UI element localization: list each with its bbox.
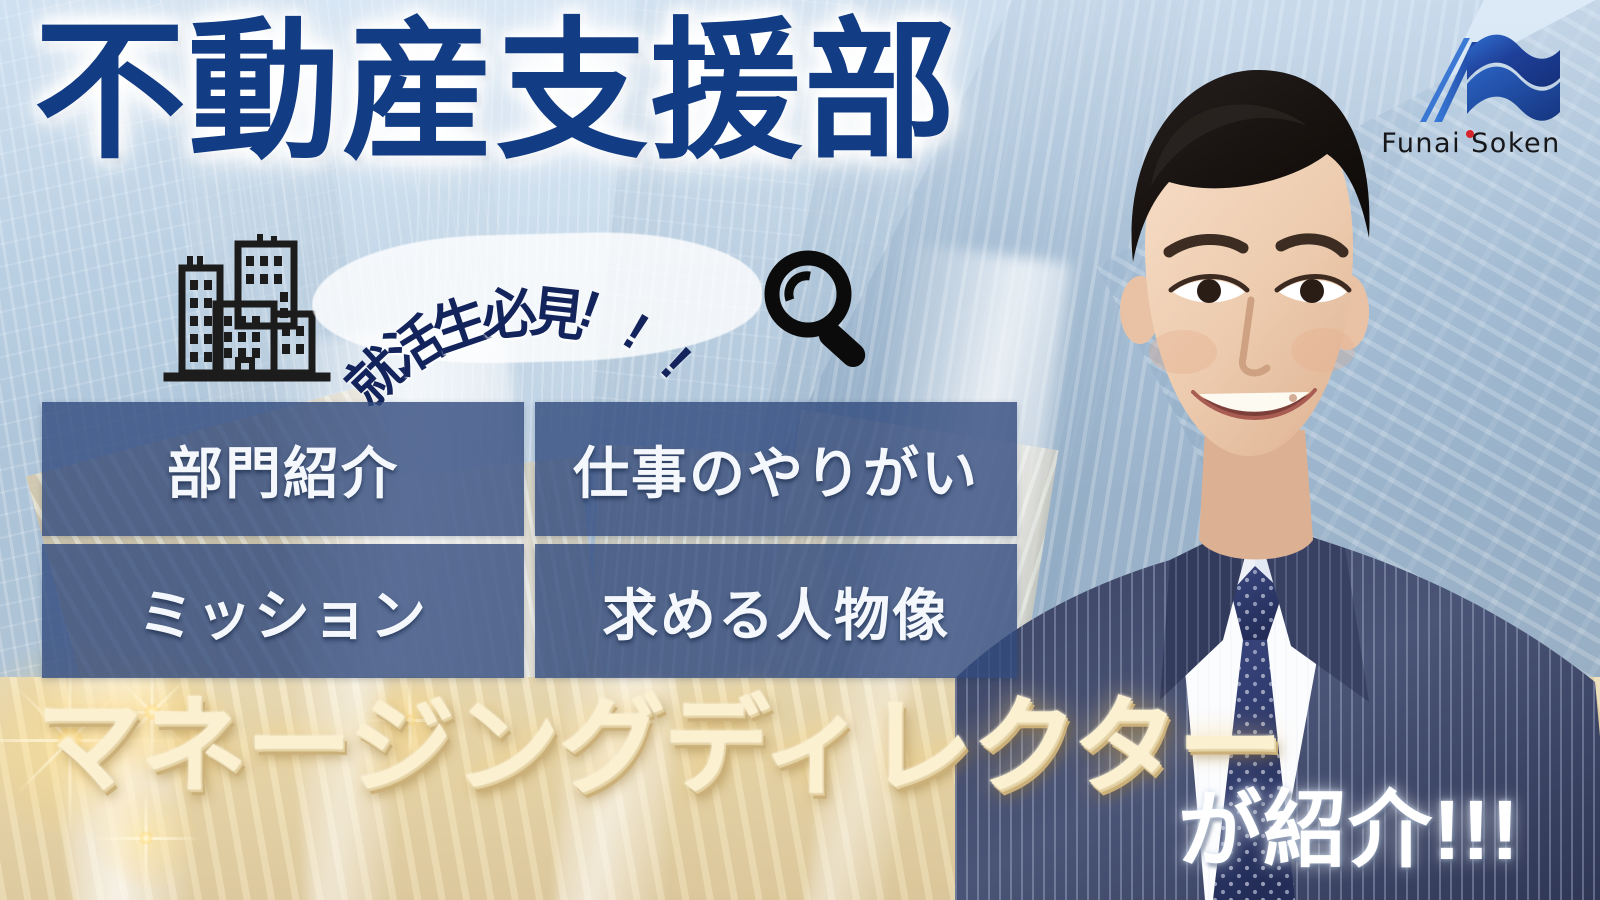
- footer-subheadline: が紹介!!!: [1178, 788, 1520, 872]
- thumbnail-canvas: 不動産支援部 Funai Soken: [0, 0, 1600, 900]
- speech-banner-text: 就活生必見!!!: [312, 234, 762, 362]
- page-title: 不動産支援部: [34, 10, 958, 174]
- menu-item-label: 求める人物像: [602, 571, 950, 652]
- menu-item-bumon-shokai[interactable]: 部門紹介: [42, 402, 524, 536]
- brand-logo: Funai Soken: [1364, 22, 1578, 172]
- menu-item-label: ミッション: [138, 571, 428, 652]
- brand-logo-accent-dot: [1466, 130, 1474, 138]
- menu-item-mission[interactable]: ミッション: [42, 544, 524, 678]
- menu-item-motomeru-jinbutsuzo[interactable]: 求める人物像: [535, 544, 1017, 678]
- magnifying-glass-icon: [752, 246, 882, 368]
- speech-banner: 就活生必見!!!: [312, 234, 762, 362]
- funai-soken-wave-logo-icon: [1364, 22, 1578, 132]
- menu-item-label: 部門紹介: [167, 429, 399, 510]
- footer-headline: マネージングディレクター: [36, 694, 1282, 800]
- menu-item-label: 仕事のやりがい: [573, 429, 979, 510]
- speech-banner-char: !: [613, 302, 659, 362]
- menu-item-shigoto-no-yarigai[interactable]: 仕事のやりがい: [535, 402, 1017, 536]
